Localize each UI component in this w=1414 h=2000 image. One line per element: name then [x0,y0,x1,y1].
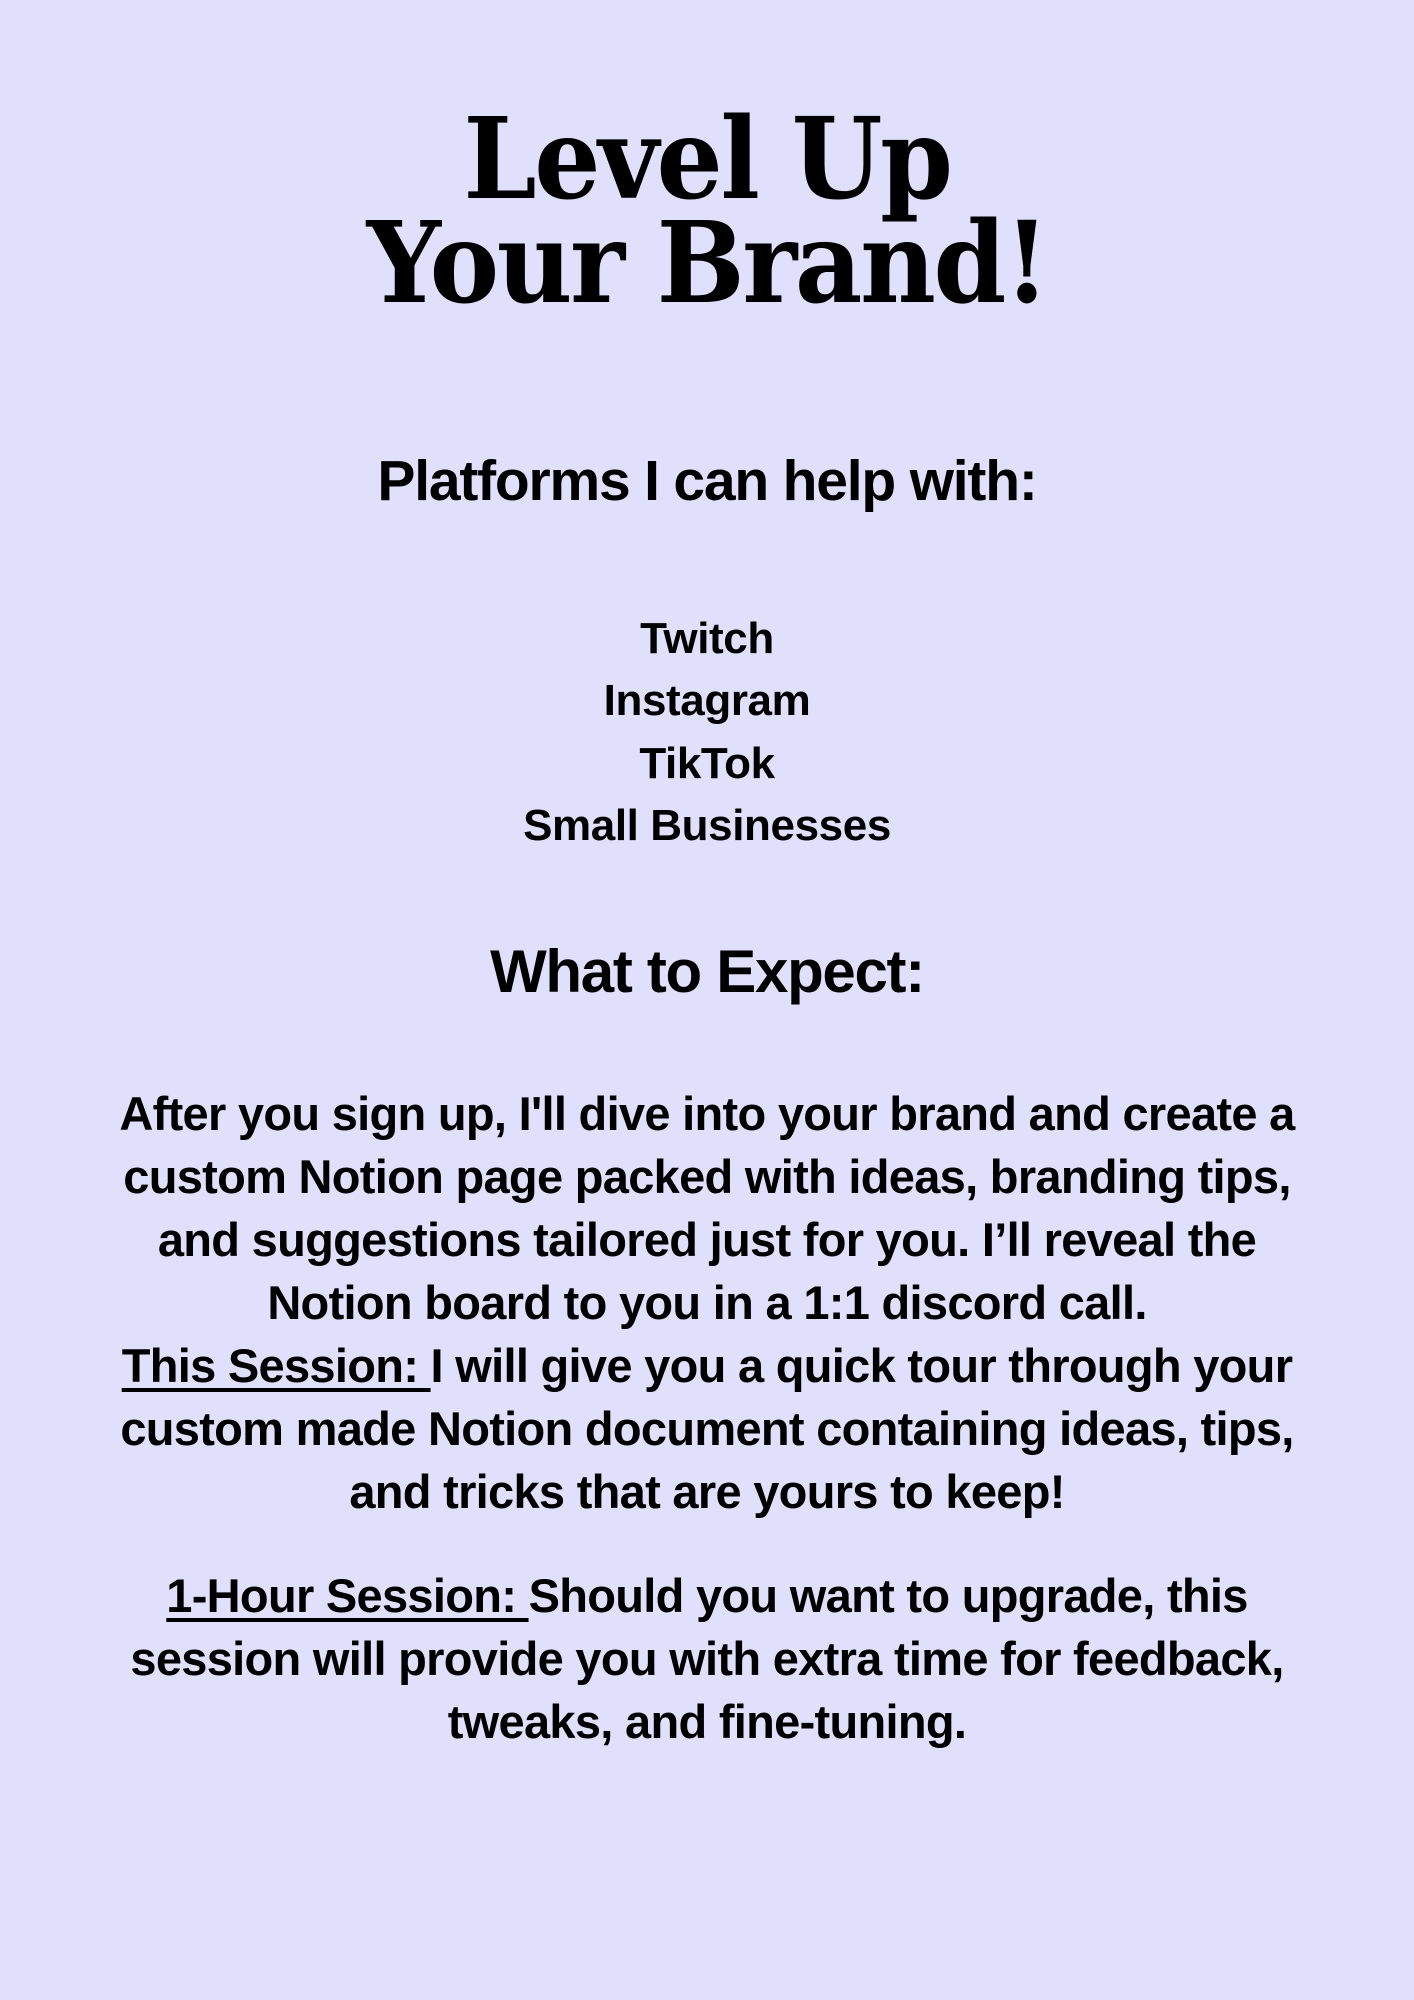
list-item: Small Businesses [0,795,1414,857]
title-line-1: Level Up [49,108,1364,212]
list-item: TikTok [0,733,1414,795]
page-title: Level Up Your Brand! [0,108,1414,316]
this-session-lead-in: This Session: [122,1339,431,1392]
what-to-expect-heading: What to Expect: [0,940,1414,1003]
platforms-list: Twitch Instagram TikTok Small Businesses [0,608,1414,858]
one-hour-session-paragraph: 1-Hour Session: Should you want to upgra… [110,1565,1304,1754]
list-item: Twitch [0,608,1414,670]
expect-body-primary: After you sign up, I'll dive into your b… [110,1083,1304,1524]
expect-body-secondary: 1-Hour Session: Should you want to upgra… [110,1565,1304,1754]
intro-paragraph: After you sign up, I'll dive into your b… [110,1083,1304,1335]
title-line-2: Your Brand! [49,212,1364,316]
list-item: Instagram [0,670,1414,732]
one-hour-session-lead-in: 1-Hour Session: [166,1569,528,1622]
platforms-heading: Platforms I can help with: [0,452,1414,512]
flyer-page: Level Up Your Brand! Platforms I can hel… [0,0,1414,2000]
this-session-paragraph: This Session: I will give you a quick to… [110,1335,1304,1524]
